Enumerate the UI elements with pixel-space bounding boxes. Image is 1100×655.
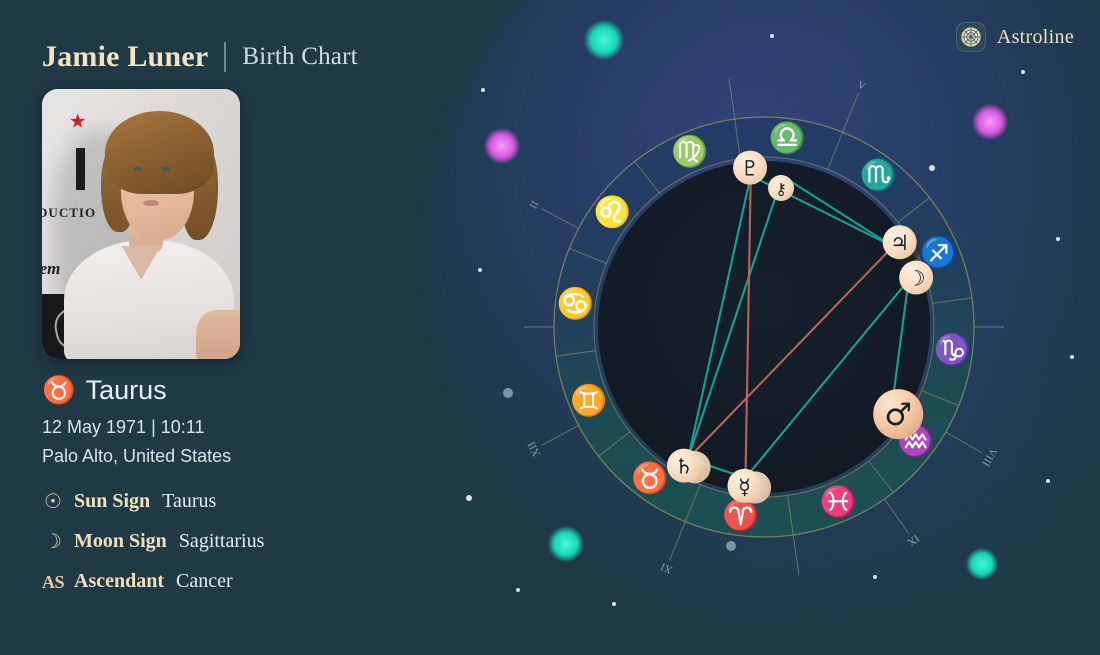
app-root: Jamie Luner Birth Chart Astroline — [0, 0, 1100, 655]
ascendant-icon: AS — [42, 573, 64, 591]
attribute-row: ☽Moon SignSagittarius — [42, 530, 442, 553]
backdrop-text-left: DUCTIO — [42, 205, 96, 221]
zodiac-sign-libra: ♎ — [768, 120, 805, 155]
zodiac-sign-virgo: ♍ — [671, 134, 708, 169]
natal-chart-wheel[interactable]: ♈♓♒♑♐♏♎♍♌♋♊♉AscIIIVVDscVIIIIXXXIXII♄☿♂☽♃… — [516, 79, 1012, 575]
house-label: II — [527, 199, 541, 211]
house-label: V — [855, 79, 867, 93]
house-cusp-line — [670, 520, 686, 561]
backdrop-text-lower: nem — [42, 259, 60, 279]
glowing-orb — [584, 20, 624, 60]
attribute-label: Moon Sign — [74, 530, 167, 553]
background-star — [478, 268, 482, 272]
house-cusp-line — [793, 533, 799, 575]
attribute-label: Ascendant — [74, 570, 164, 593]
zodiac-sign-capricorn: ♑ — [934, 332, 971, 367]
attribute-row: ☉Sun SignTaurus — [42, 490, 442, 513]
title-divider — [224, 42, 226, 72]
primary-sign: ♉ Taurus — [42, 375, 442, 406]
house-cusp-line — [842, 93, 858, 134]
photo-lips — [143, 200, 159, 206]
house-label: Dsc — [1010, 318, 1012, 335]
chart-svg: ♈♓♒♑♐♏♎♍♌♋♊♉AscIIIVVDscVIIIIXXXIXII♄☿♂☽♃… — [516, 79, 1012, 575]
page-title: Jamie Luner Birth Chart — [42, 40, 358, 74]
background-star — [1021, 70, 1025, 74]
background-star — [770, 34, 774, 38]
person-name: Jamie Luner — [42, 40, 208, 74]
attribute-value: Taurus — [162, 490, 216, 513]
zodiac-sign-leo: ♌ — [594, 194, 631, 229]
attribute-row: ASAscendantCancer — [42, 570, 442, 593]
house-label: Asc — [516, 318, 518, 335]
chart-title: Birth Chart — [242, 43, 357, 71]
avatar: DUCTIO A. nem — [42, 89, 240, 359]
house-cusp-line — [541, 209, 580, 230]
background-star — [466, 495, 472, 501]
brand-name: Astroline — [997, 26, 1074, 49]
planet-glyph-jupiter: ♃ — [890, 231, 909, 255]
astrolabe-wheel-icon — [956, 22, 986, 52]
house-cusp-line — [883, 497, 908, 533]
taurus-icon: ♉ — [42, 377, 76, 404]
primary-sign-name: Taurus — [86, 375, 167, 406]
planet-badge-mars[interactable]: ♂ — [873, 389, 923, 439]
photo-arm — [196, 310, 240, 359]
planet-glyph-moon: ☽ — [907, 267, 926, 291]
birth-datetime: 12 May 1971 | 10:11 — [42, 417, 442, 438]
birth-place: Palo Alto, United States — [42, 446, 442, 467]
zodiac-sign-gemini: ♊ — [570, 383, 607, 418]
background-star — [1046, 479, 1050, 483]
planet-badge-pluto[interactable]: ♇ — [733, 151, 767, 185]
attribute-value: Sagittarius — [179, 530, 265, 553]
zodiac-sign-scorpio: ♏ — [860, 157, 897, 192]
background-star — [1070, 355, 1074, 359]
planet-glyph-mars: ♂ — [884, 397, 912, 433]
attribute-list: ☉Sun SignTaurus☽Moon SignSagittariusASAs… — [42, 490, 442, 593]
house-label: XII — [525, 439, 543, 458]
planet-glyph-pluto: ♇ — [741, 157, 760, 181]
house-label: VIII — [979, 446, 999, 469]
attribute-label: Sun Sign — [74, 490, 150, 513]
glowing-orb — [503, 388, 513, 398]
profile-info: ♉ Taurus 12 May 1971 | 10:11 Palo Alto, … — [42, 375, 442, 610]
glowing-orb — [484, 128, 520, 164]
background-star — [516, 588, 520, 592]
zodiac-sign-taurus: ♉ — [631, 460, 668, 495]
planet-glyph-chiron: ⚷ — [775, 180, 787, 199]
house-label: IX — [905, 532, 921, 549]
backdrop-letter — [76, 148, 85, 190]
planet-badge-chiron[interactable]: ⚷ — [768, 175, 794, 201]
attribute-value: Cancer — [176, 570, 233, 593]
house-cusp-line — [944, 431, 982, 453]
background-star — [481, 88, 485, 92]
moon-icon: ☽ — [42, 532, 64, 552]
sun-icon: ☉ — [42, 492, 64, 512]
photo-hair-top — [105, 111, 214, 195]
planet-glyph-saturn: ♄ — [675, 455, 694, 479]
background-star — [1056, 237, 1060, 241]
planet-badge-moon[interactable]: ☽ — [899, 261, 933, 295]
house-cusp-line — [729, 79, 735, 121]
house-cusp-line — [541, 425, 580, 446]
zodiac-sign-pisces: ♓ — [820, 483, 857, 518]
house-label: XI — [659, 560, 675, 575]
background-star — [612, 602, 616, 606]
background-star — [873, 575, 877, 579]
planet-glyph-mercury: ☿ — [738, 475, 751, 499]
chart-inner-disc — [598, 161, 930, 493]
brand-logo[interactable]: Astroline — [956, 22, 1074, 52]
zodiac-sign-cancer: ♋ — [557, 285, 594, 320]
